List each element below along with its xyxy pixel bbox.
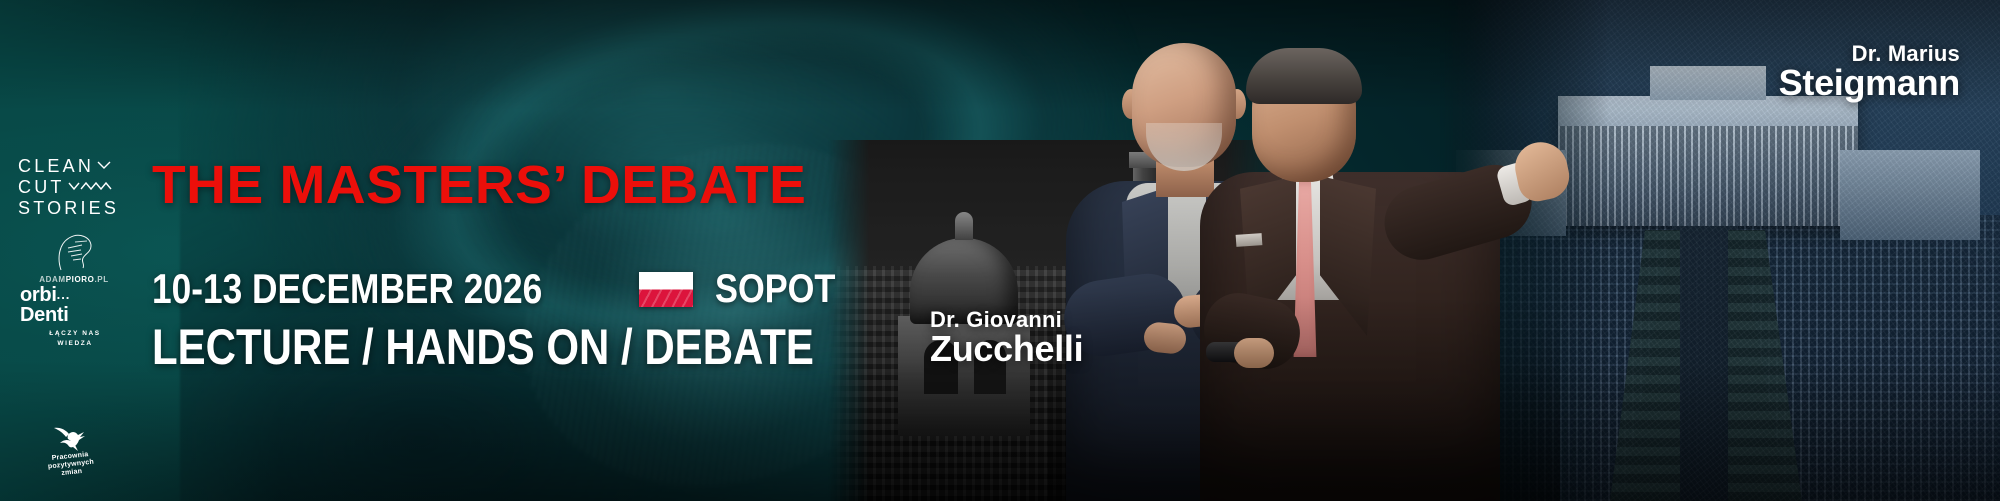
event-headline: THE MASTERS’ DEBATE [152, 158, 806, 212]
pioro-text-pl: .PL [94, 275, 108, 284]
steigmann-surname: Steigmann [1779, 65, 1960, 102]
speaker-label-zucchelli: Dr. Giovanni Zucchelli [930, 308, 1083, 368]
ccs-line-2: CUT [18, 176, 130, 197]
sponsor-logo-column: CLEAN CUT STORIES [0, 0, 150, 501]
orbi-tagline: ŁĄCZY NAS WIEDZA [20, 329, 130, 349]
ccs-word-clean: CLEAN [18, 157, 94, 175]
face-profile-icon [26, 232, 122, 272]
event-city: SOPOT [715, 269, 835, 309]
steigmann-pocket-square [1236, 233, 1263, 247]
orbi-line-1: orbi... [20, 285, 130, 305]
logo-adam-pioro[interactable]: ADAMPIORO.PL [26, 232, 122, 284]
steigmann-hair [1246, 48, 1362, 104]
poland-flag-icon [639, 272, 693, 307]
pioro-text-pioro: PIORO [66, 275, 95, 284]
logo-orbi-denti[interactable]: orbi... Denti ŁĄCZY NAS WIEDZA [20, 285, 130, 349]
ccs-line-1: CLEAN [18, 155, 130, 176]
hummingbird-icon [36, 425, 106, 451]
orbi-tagline-2: WIEDZA [20, 339, 130, 349]
event-date-location-row: 10-13 DECEMBER 2026 SOPOT [152, 268, 855, 310]
zigzag-icon [68, 181, 114, 193]
logo-pracownia-pozytywnych-zmian[interactable]: Pracownia pozytywnych zmian [36, 425, 106, 477]
speaker-photo-steigmann [1200, 46, 1560, 501]
orbi-dots: ... [57, 287, 71, 302]
speaker-label-steigmann: Dr. Marius Steigmann [1779, 42, 1960, 102]
orbi-line-2: Denti [20, 305, 130, 326]
orbi-tagline-1: ŁĄCZY NAS [20, 329, 130, 339]
vignette-overlay [0, 0, 2000, 501]
event-banner: CLEAN CUT STORIES [0, 0, 2000, 501]
ccs-word-cut: CUT [18, 178, 65, 196]
logo-clean-cut-stories[interactable]: CLEAN CUT STORIES [18, 155, 130, 218]
steigmann-hand-holding [1234, 338, 1274, 368]
pioro-text-adam: ADAM [39, 275, 65, 284]
orbi-word: orbi [20, 284, 57, 306]
zucchelli-surname: Zucchelli [930, 331, 1083, 368]
chevron-down-icon [97, 160, 111, 171]
event-format: LECTURE / HANDS ON / DEBATE [152, 322, 814, 372]
event-date: 10-13 DECEMBER 2026 [152, 268, 542, 310]
pracownia-wordmark: Pracownia pozytywnych zmian [35, 449, 107, 480]
adam-pioro-wordmark: ADAMPIORO.PL [26, 275, 122, 284]
ccs-line-3: STORIES [18, 197, 130, 218]
ccs-word-stories: STORIES [18, 199, 119, 217]
